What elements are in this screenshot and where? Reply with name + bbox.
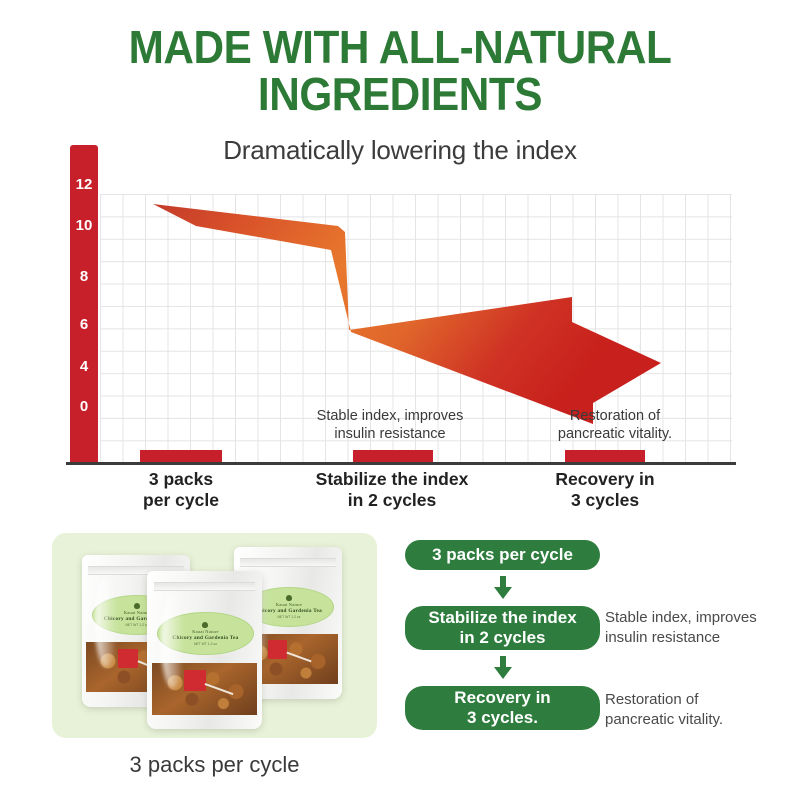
arrow-down-icon (492, 576, 514, 600)
x-label-3-line1: Recovery in (520, 469, 690, 490)
pouch-net-weight: NET WT 1.2 oz (277, 615, 300, 619)
flow-note-2-line1: Stable index, improves (605, 608, 757, 628)
flow-step-3-line1: Recovery in (454, 688, 550, 707)
flow-note-2: Stable index, improves insulin resistanc… (605, 608, 757, 647)
flow-step-3-label: Recovery in 3 cycles. (454, 688, 550, 727)
pouch-brand-name: Kauai Nature (276, 602, 303, 607)
x-label-2-line2: in 2 cycles (297, 490, 487, 511)
flow-step-1-label: 3 packs per cycle (432, 545, 573, 565)
teabag-tag-icon (118, 649, 138, 668)
brand-crest-icon (134, 603, 140, 609)
pouch-highlight (161, 593, 184, 688)
flow-note-3-line1: Restoration of (605, 690, 723, 710)
flow-step-1[interactable]: 3 packs per cycle (405, 540, 600, 570)
teabag-tag-icon (268, 640, 287, 659)
flow-note-3-line2: pancreatic vitality. (605, 710, 723, 730)
flow-step-3[interactable]: Recovery in 3 cycles. (405, 686, 600, 730)
pouch-net-weight: NET WT 1.2 oz (194, 642, 217, 646)
index-decline-chart: 12 10 8 6 4 0 Stable index, improves (0, 0, 800, 520)
x-label-1-line2: per cycle (100, 490, 262, 511)
chart-annotation-2-line1: Restoration of (530, 407, 700, 425)
pouch-net-weight: NET WT 1.2 oz (125, 623, 148, 627)
pouch-brand-name: Kauai Nature (192, 629, 219, 634)
x-axis-line (66, 462, 736, 465)
x-label-1-line1: 3 packs (100, 469, 262, 490)
product-pouch-front: Kauai Nature Chicory and Gardenia Tea NE… (147, 571, 262, 729)
arrow-down-icon (492, 656, 514, 680)
teabag-string (286, 651, 311, 662)
x-label-3: Recovery in 3 cycles (520, 469, 690, 511)
flow-step-3-line2: 3 cycles. (467, 708, 538, 727)
flow-step-2-line2: in 2 cycles (459, 628, 545, 647)
x-label-2: Stabilize the index in 2 cycles (297, 469, 487, 511)
infographic-page: MADE WITH ALL-NATURAL INGREDIENTS Dramat… (0, 0, 800, 800)
pouch-zip-seal (154, 582, 255, 591)
teabag-tag-icon (184, 670, 205, 691)
x-label-1: 3 packs per cycle (100, 469, 262, 511)
x-label-3-line2: 3 cycles (520, 490, 690, 511)
treatment-flow-diagram: 3 packs per cycle Stabilize the index in… (400, 540, 790, 740)
chart-annotation-2: Restoration of pancreatic vitality. (530, 407, 700, 443)
flow-step-2-line1: Stabilize the index (428, 608, 576, 627)
x-label-2-line1: Stabilize the index (297, 469, 487, 490)
chart-annotation-1-line2: insulin resistance (300, 425, 480, 443)
product-photo: Kauai Nature Chicory and Gardenia Tea NE… (52, 533, 377, 738)
flow-note-3: Restoration of pancreatic vitality. (605, 690, 723, 729)
chart-annotation-1-line1: Stable index, improves (300, 407, 480, 425)
product-caption: 3 packs per cycle (52, 752, 377, 778)
pouch-highlight (95, 576, 117, 667)
chart-annotation-1: Stable index, improves insulin resistanc… (300, 407, 480, 443)
flow-step-2-label: Stabilize the index in 2 cycles (428, 608, 576, 647)
chart-annotation-2-line2: pancreatic vitality. (530, 425, 700, 443)
pouch-zip-seal (240, 558, 335, 567)
flow-step-2[interactable]: Stabilize the index in 2 cycles (405, 606, 600, 650)
brand-crest-icon (202, 622, 208, 628)
brand-crest-icon (286, 595, 292, 601)
teabag-string (205, 683, 234, 695)
flow-note-2-line2: insulin resistance (605, 628, 757, 648)
